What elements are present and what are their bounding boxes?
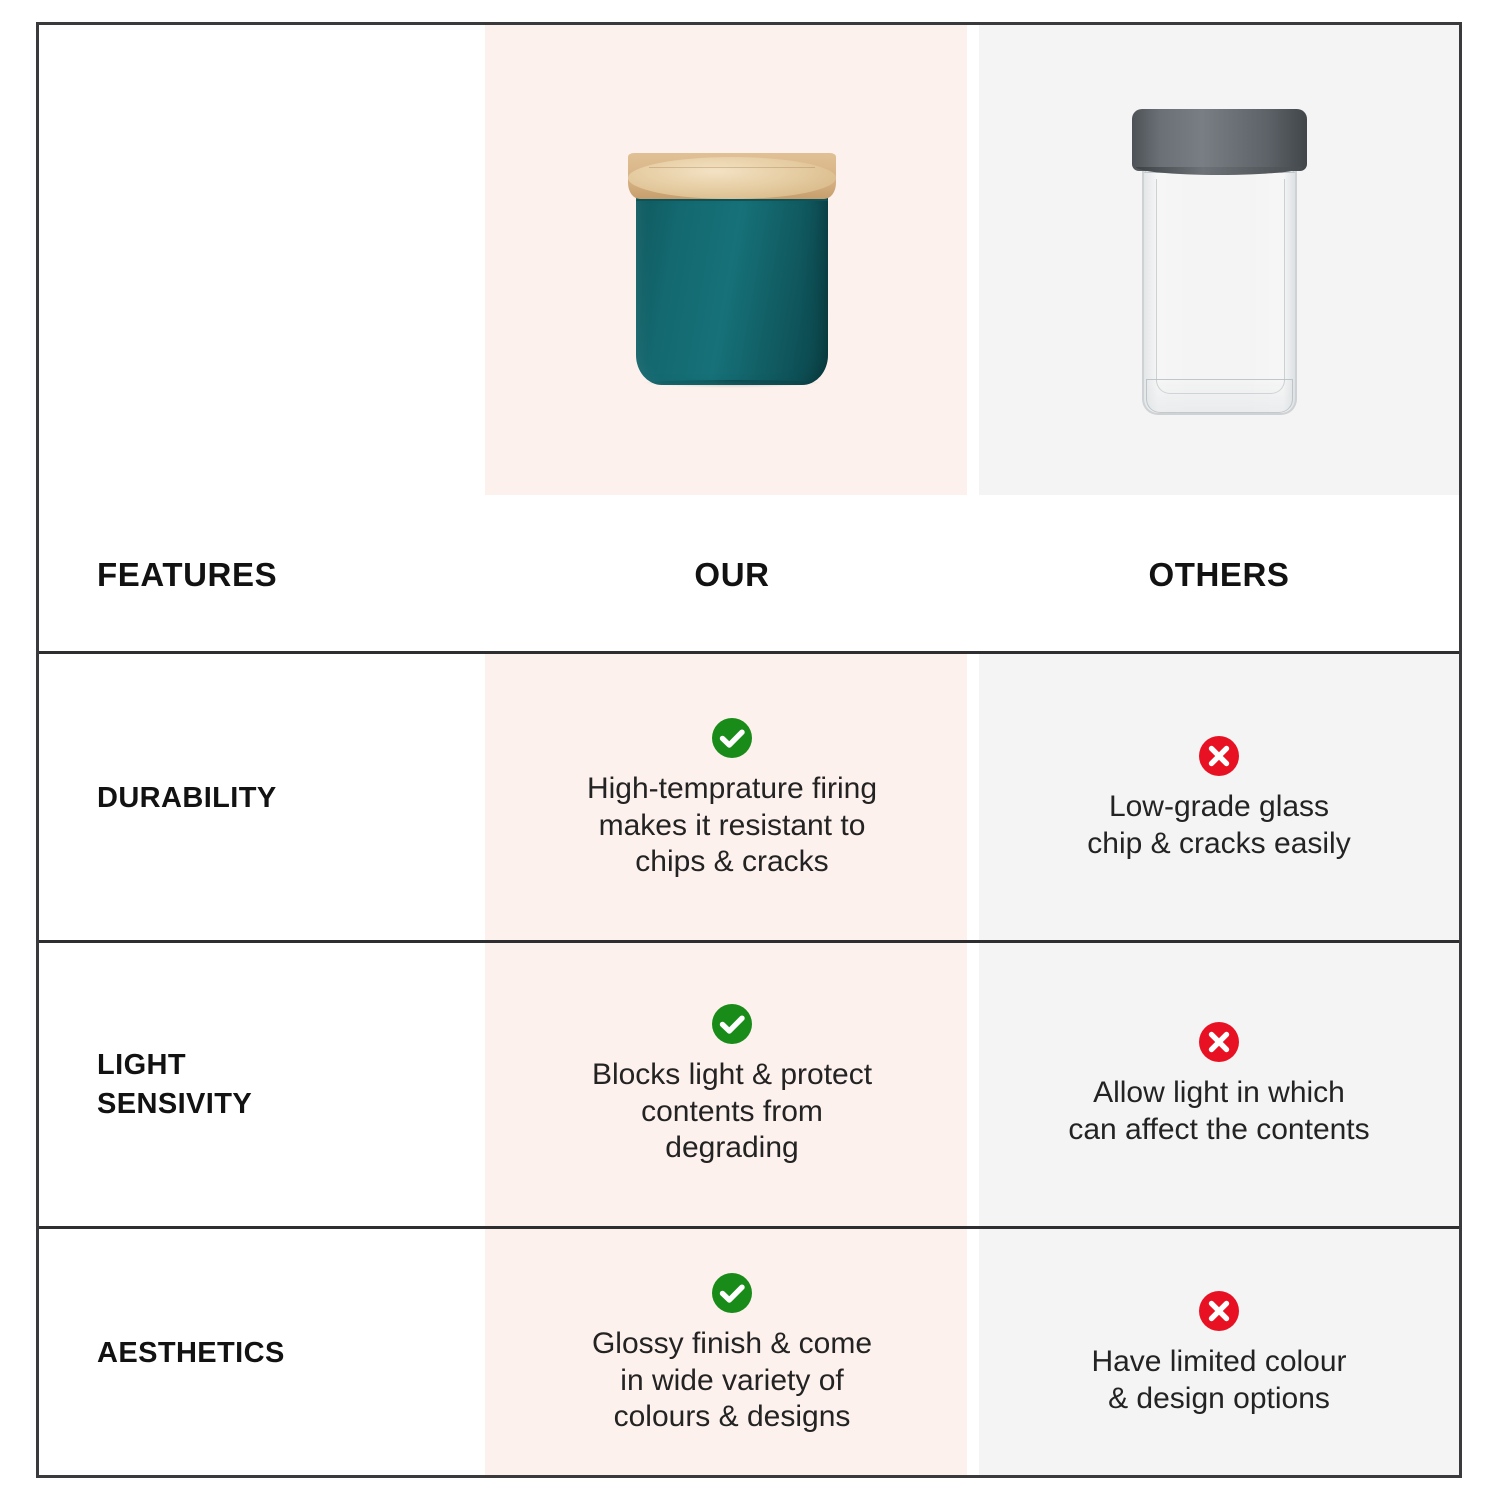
- our-cell-durability: High-temprature firing makes it resistan…: [485, 657, 979, 940]
- product-image-row: [39, 25, 1459, 495]
- our-column-header: OUR: [694, 556, 769, 594]
- feature-name-cell-aesthetics: AESTHETICS: [39, 1229, 485, 1478]
- glass-jar-inner-wall: [1156, 179, 1285, 394]
- others-cell-durability: Low-grade glass chip & cracks easily: [979, 657, 1459, 940]
- header-features-cell: FEATURES: [39, 495, 485, 654]
- our-product-image-cell: [485, 25, 979, 495]
- image-row-feature-cell: [39, 25, 485, 495]
- table-row: LIGHT SENSIVITY Blocks light & protect c…: [39, 943, 1459, 1226]
- ceramic-jar-body: [636, 193, 828, 385]
- feature-label: DURABILITY: [97, 779, 277, 817]
- check-circle-icon: [710, 1002, 754, 1046]
- feature-label: LIGHT SENSIVITY: [97, 1046, 252, 1123]
- others-column-header: OTHERS: [1148, 556, 1289, 594]
- check-circle-icon: [710, 716, 754, 760]
- feature-name-cell-light-sensivity: LIGHT SENSIVITY: [39, 943, 485, 1226]
- clear-glass-jar-with-gray-lid-icon: [1132, 105, 1307, 415]
- our-feature-text: High-temprature firing makes it resistan…: [587, 771, 877, 882]
- ceramic-jar-lid-top: [628, 157, 836, 199]
- header-our-cell: OUR: [485, 495, 979, 654]
- check-circle-icon: [710, 1271, 754, 1315]
- others-feature-text: Allow light in which can affect the cont…: [1068, 1075, 1369, 1149]
- our-feature-text: Blocks light & protect contents from deg…: [592, 1057, 872, 1168]
- feature-name-cell-durability: DURABILITY: [39, 657, 485, 940]
- others-feature-text: Have limited colour & design options: [1091, 1344, 1346, 1418]
- table-row: AESTHETICS Glossy finish & come in wide …: [39, 1229, 1459, 1478]
- teal-ceramic-jar-with-wooden-lid-icon: [628, 135, 836, 385]
- glass-jar-gray-lid: [1132, 109, 1307, 171]
- table-header-row: FEATURES OUR OTHERS: [39, 495, 1459, 654]
- others-cell-aesthetics: Have limited colour & design options: [979, 1229, 1459, 1478]
- cross-circle-icon: [1197, 1020, 1241, 1064]
- header-others-cell: OTHERS: [979, 495, 1459, 654]
- others-cell-light-sensivity: Allow light in which can affect the cont…: [979, 943, 1459, 1226]
- ceramic-jar-wooden-lid: [628, 153, 836, 199]
- glass-jar-base: [1146, 379, 1293, 413]
- feature-label: AESTHETICS: [97, 1334, 285, 1372]
- our-feature-text: Glossy finish & come in wide variety of …: [592, 1326, 872, 1437]
- cross-circle-icon: [1197, 734, 1241, 778]
- features-column-header: FEATURES: [97, 556, 277, 594]
- comparison-infographic: FEATURES OUR OTHERS DURABILITY High-temp…: [0, 0, 1500, 1500]
- cross-circle-icon: [1197, 1289, 1241, 1333]
- our-cell-aesthetics: Glossy finish & come in wide variety of …: [485, 1229, 979, 1478]
- others-feature-text: Low-grade glass chip & cracks easily: [1087, 789, 1350, 863]
- others-product-image-cell: [979, 25, 1459, 495]
- table-row: DURABILITY High-temprature firing makes …: [39, 657, 1459, 940]
- comparison-table: FEATURES OUR OTHERS DURABILITY High-temp…: [36, 22, 1462, 1478]
- our-cell-light-sensivity: Blocks light & protect contents from deg…: [485, 943, 979, 1226]
